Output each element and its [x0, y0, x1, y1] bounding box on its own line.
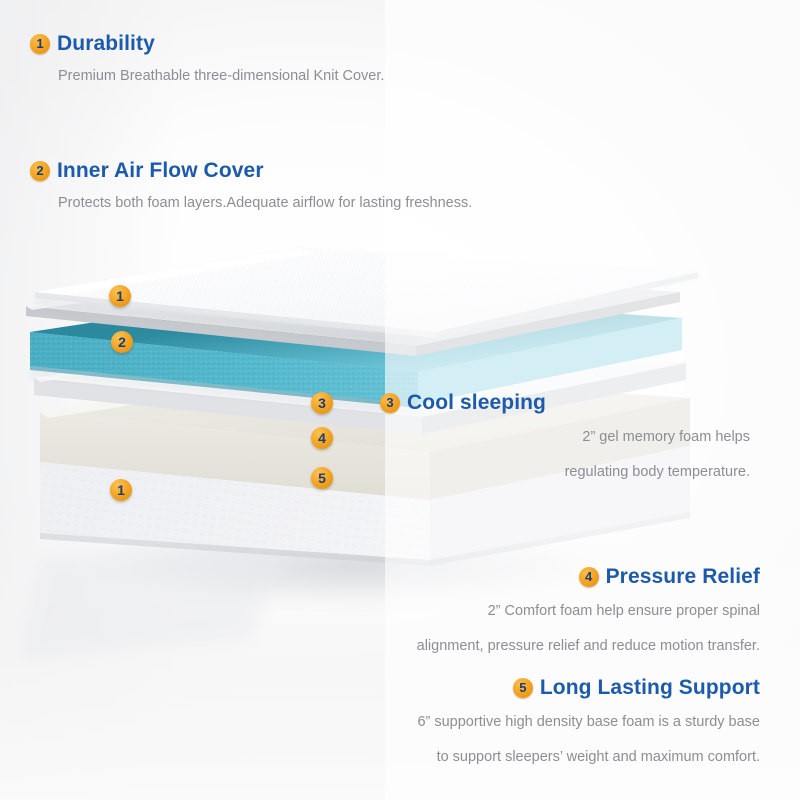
- feature-heading-inner-air-flow-cover: 2 Inner Air Flow Cover: [30, 159, 472, 183]
- feature-block-long-lasting-support: 5 Long Lasting Support 6” supportive hig…: [200, 676, 760, 770]
- feature-description-3-line-1: 2” gel memory foam helps: [380, 425, 750, 450]
- diagram-callout-2[interactable]: 2: [111, 331, 133, 353]
- feature-description-1: Premium Breathable three-dimensional Kni…: [58, 64, 384, 89]
- diagram-callout-1[interactable]: 1: [109, 285, 131, 307]
- feature-title-4: Pressure Relief: [606, 565, 760, 589]
- feature-description-4-line-2: alignment, pressure relief and reduce mo…: [200, 634, 760, 659]
- feature-heading-durability: 1 Durability: [30, 32, 384, 56]
- feature-badge-5: 5: [513, 678, 533, 698]
- feature-block-durability: 1 Durability Premium Breathable three-di…: [30, 32, 384, 89]
- diagram-callout-4[interactable]: 4: [311, 427, 333, 449]
- feature-title-5: Long Lasting Support: [540, 676, 760, 700]
- feature-badge-4: 4: [579, 567, 599, 587]
- diagram-callout-1-side[interactable]: 1: [110, 479, 132, 501]
- feature-block-inner-air-flow-cover: 2 Inner Air Flow Cover Protects both foa…: [30, 159, 472, 216]
- feature-description-3-line-2: regulating body temperature.: [380, 460, 750, 485]
- feature-description-4-line-1: 2” Comfort foam help ensure proper spina…: [200, 599, 760, 624]
- feature-badge-2: 2: [30, 161, 50, 181]
- feature-heading-cool-sleeping: 3 Cool sleeping: [380, 391, 750, 415]
- feature-block-cool-sleeping: 3 Cool sleeping 2” gel memory foam helps…: [380, 391, 750, 485]
- feature-heading-long-lasting-support: 5 Long Lasting Support: [200, 676, 760, 700]
- feature-title-1: Durability: [57, 32, 155, 56]
- feature-heading-pressure-relief: 4 Pressure Relief: [200, 565, 760, 589]
- feature-description-2: Protects both foam layers.Adequate airfl…: [58, 191, 472, 216]
- feature-badge-3: 3: [380, 393, 400, 413]
- diagram-callout-5[interactable]: 5: [311, 467, 333, 489]
- diagram-callout-3[interactable]: 3: [311, 392, 333, 414]
- feature-description-5-line-2: to support sleepers’ weight and maximum …: [200, 745, 760, 770]
- feature-title-2: Inner Air Flow Cover: [57, 159, 264, 183]
- feature-title-3: Cool sleeping: [407, 391, 546, 415]
- infographic-canvas: 1 2 3 4 5 1 1 Durability Premium Breatha…: [0, 0, 800, 800]
- feature-description-5-line-1: 6” supportive high density base foam is …: [200, 710, 760, 735]
- feature-badge-1: 1: [30, 34, 50, 54]
- feature-block-pressure-relief: 4 Pressure Relief 2” Comfort foam help e…: [200, 565, 760, 659]
